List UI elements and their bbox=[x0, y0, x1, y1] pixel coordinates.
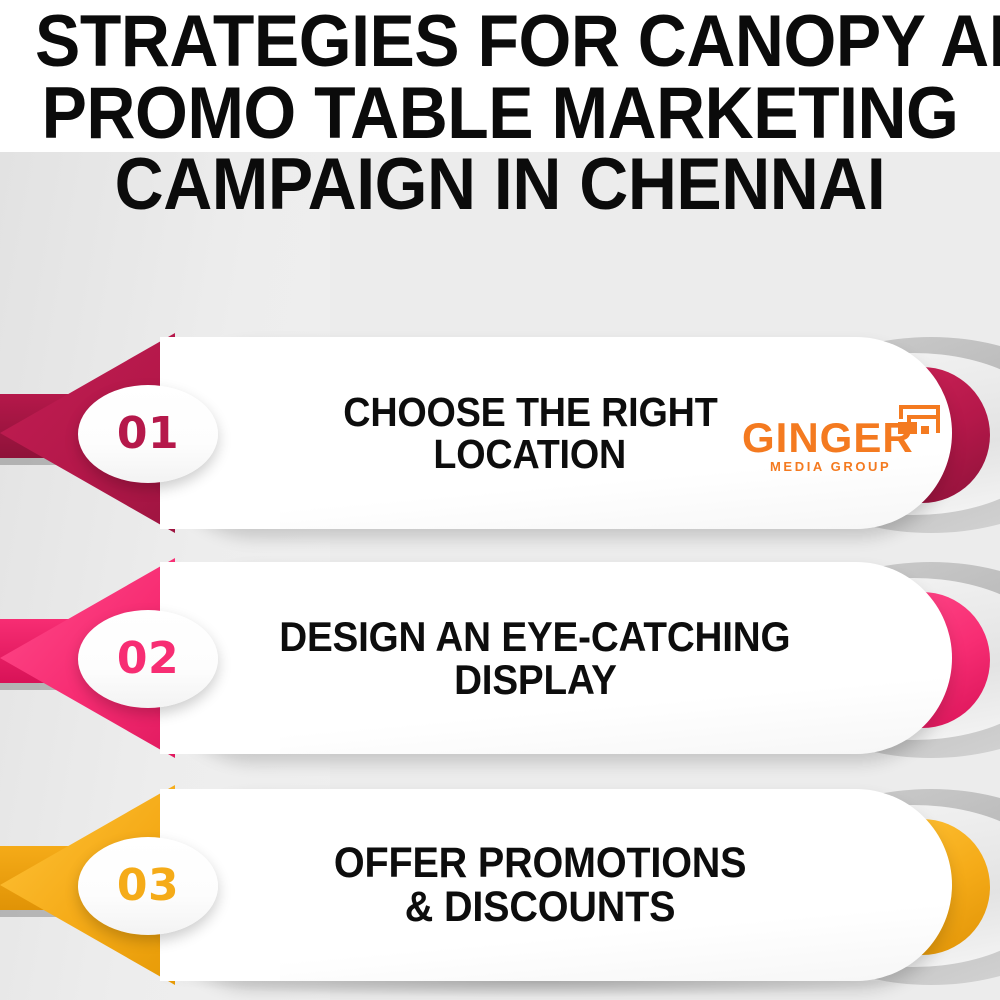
brand-logo-wordmark: GINGER bbox=[742, 417, 914, 459]
ginger-media-group-mark-icon bbox=[895, 403, 941, 447]
title-line-3: CAMPAIGN IN CHENNAI bbox=[35, 149, 965, 221]
title-line-2: PROMO TABLE MARKETING bbox=[35, 78, 965, 150]
step-number: 03 bbox=[117, 864, 179, 908]
step-row-2: 02 DESIGN AN EYE-CATCHING DISPLAY bbox=[0, 558, 1000, 758]
step-number: 02 bbox=[117, 637, 179, 681]
poster-title: STRATEGIES FOR CANOPY AND PROMO TABLE MA… bbox=[0, 6, 1000, 221]
brand-logo: GINGER MEDIA GROUP bbox=[742, 403, 952, 479]
title-line-1: STRATEGIES FOR CANOPY AND bbox=[35, 6, 965, 78]
step-number-badge: 03 bbox=[78, 837, 218, 935]
brand-logo-subtitle: MEDIA GROUP bbox=[770, 460, 891, 473]
step-row-3: 03 OFFER PROMOTIONS & DISCOUNTS bbox=[0, 785, 1000, 985]
step-number-badge: 01 bbox=[78, 385, 218, 483]
step-number-badge: 02 bbox=[78, 610, 218, 708]
infographic-poster: STRATEGIES FOR CANOPY AND PROMO TABLE MA… bbox=[0, 0, 1000, 1000]
step-bar-drop-shadow bbox=[160, 981, 920, 997]
step-row-1: 01 CHOOSE THE RIGHT LOCATION GINGER MEDI… bbox=[0, 333, 1000, 533]
step-number: 01 bbox=[117, 412, 179, 456]
